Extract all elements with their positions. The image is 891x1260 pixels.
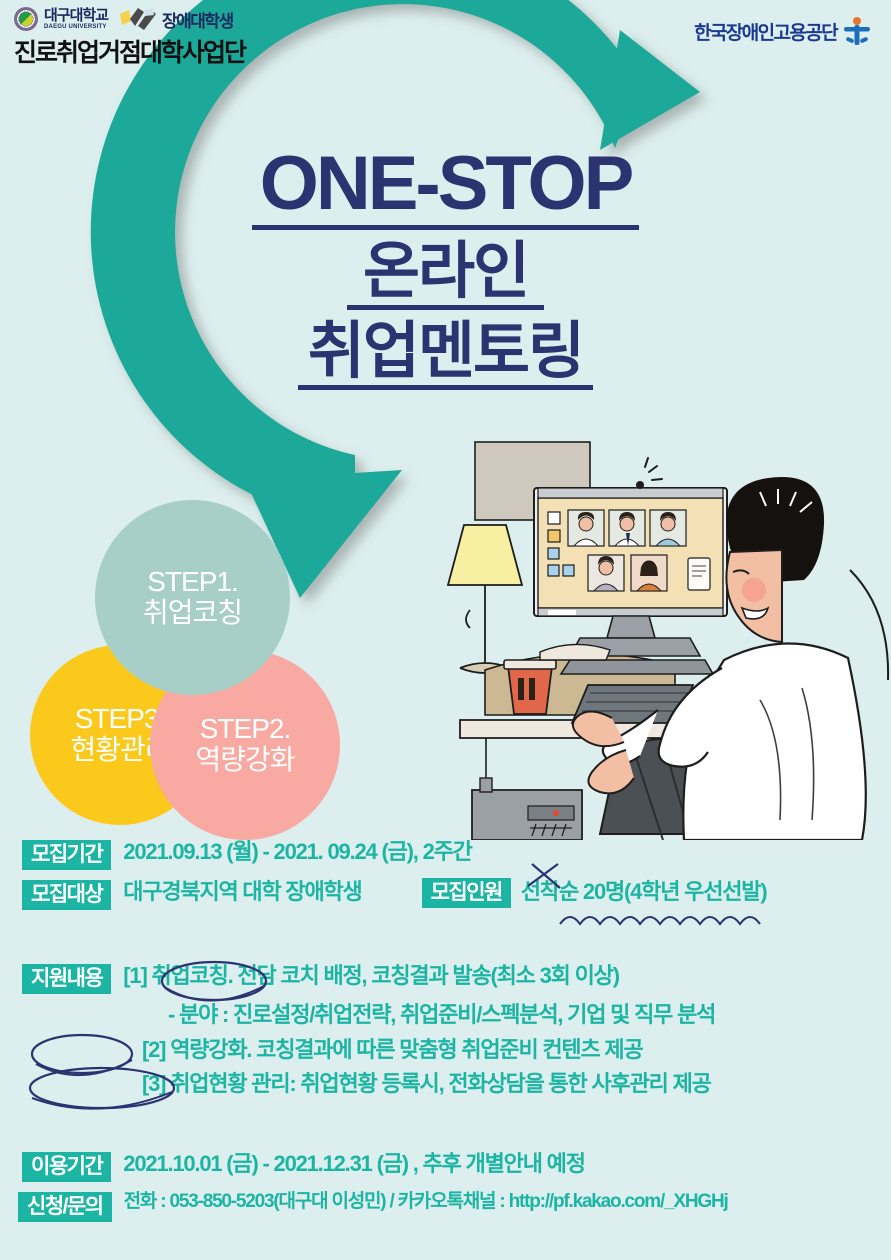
footer-info-section: 이용기간 2021.10.01 (금) - 2021.12.31 (금) , 추…: [0, 1150, 891, 1230]
quota-value: 선착순 20명(4학년 우선선발): [521, 878, 767, 906]
info-row-target: 모집대상 대구경북지역 대학 장애학생 모집인원 선착순 20명(4학년 우선선…: [0, 878, 891, 910]
support-section: 지원내용 [1] 취업코칭. 전담 코치 배정, 코칭결과 발송(최소 3회 이…: [0, 962, 891, 1105]
target-label-badge: 모집대상: [22, 880, 111, 910]
step-1-number: STEP1.: [147, 567, 237, 598]
daegu-university-emblem-icon: [14, 7, 38, 31]
usage-label-badge: 이용기간: [22, 1152, 111, 1182]
title-line-ko-2: 취업멘토링: [298, 320, 593, 390]
step-1-label: 취업코칭: [143, 598, 242, 629]
info-section: 모집기간 2021.09.13 (월) - 2021. 09.24 (금), 2…: [0, 838, 891, 918]
support-row-3: [2] 역량강화. 코칭결과에 따른 맞춤형 취업준비 컨텐츠 제공: [0, 1036, 891, 1064]
title-line-en: ONE-STOP: [252, 148, 640, 230]
quota-label-badge: 모집인원: [422, 878, 511, 908]
poster-title: ONE-STOP 온라인 취업멘토링: [0, 148, 891, 390]
university-name-ko: 대구대학교: [44, 8, 108, 23]
info-row-contact: 신청/문의 전화 : 053-850-5203(대구대 이성민) / 카카오톡채…: [0, 1190, 891, 1222]
poster-root: 대구대학교 DAEGU UNIVERSITY 장애대학생 진로취업거점대학사업단…: [0, 0, 891, 1260]
support-line-2: - 분야 : 진로설정/취업전략, 취업준비/스펙분석, 기업 및 직무 분석: [168, 1001, 715, 1029]
target-value: 대구경북지역 대학 장애학생: [123, 878, 361, 906]
contact-label-badge: 신청/문의: [18, 1192, 112, 1222]
header-left-logo-group: 대구대학교 DAEGU UNIVERSITY 장애대학생 진로취업거점대학사업단: [14, 4, 314, 69]
header-right-logo-group: 한국장애인고용공단: [694, 16, 871, 46]
period-value: 2021.09.13 (월) - 2021. 09.24 (금), 2주간: [123, 838, 471, 866]
info-row-period: 모집기간 2021.09.13 (월) - 2021. 09.24 (금), 2…: [0, 838, 891, 870]
partner-label: 장애대학생: [162, 7, 233, 32]
kead-person-mark-icon: [843, 16, 871, 46]
university-name-en: DAEGU UNIVERSITY: [44, 24, 108, 30]
support-line-3: [2] 역량강화. 코칭결과에 따른 맞춤형 취업준비 컨텐츠 제공: [142, 1036, 643, 1064]
org-title: 진로취업거점대학사업단: [14, 33, 314, 69]
step-circle-1: STEP1. 취업코칭: [95, 500, 290, 695]
contact-value[interactable]: 전화 : 053-850-5203(대구대 이성민) / 카카오톡채널 : ht…: [124, 1190, 728, 1214]
step-2-number: STEP2.: [200, 714, 290, 745]
usage-value: 2021.10.01 (금) - 2021.12.31 (금) , 추후 개별안…: [123, 1150, 584, 1178]
support-line-1: [1] 취업코칭. 전담 코치 배정, 코칭결과 발송(최소 3회 이상): [123, 962, 619, 990]
title-line-ko-1: 온라인: [347, 240, 544, 310]
step-2-label: 역량강화: [195, 745, 294, 776]
support-row-2: - 분야 : 진로설정/취업전략, 취업준비/스펙분석, 기업 및 직무 분석: [0, 1001, 891, 1029]
check-mark-icon: [116, 8, 156, 30]
step-circle-group: STEP3. 현황관리 STEP2. 역량강화 STEP1. 취업코칭: [20, 500, 360, 830]
info-row-usage: 이용기간 2021.10.01 (금) - 2021.12.31 (금) , 추…: [0, 1150, 891, 1182]
online-mentoring-illustration: [430, 420, 891, 840]
university-name-block: 대구대학교 DAEGU UNIVERSITY: [44, 8, 108, 30]
period-label-badge: 모집기간: [22, 840, 111, 870]
support-label-badge: 지원내용: [22, 964, 111, 994]
support-row-4: [3] 취업현황 관리: 취업현황 등록시, 전화상담을 통한 사후관리 제공: [0, 1070, 891, 1098]
support-line-4: [3] 취업현황 관리: 취업현황 등록시, 전화상담을 통한 사후관리 제공: [142, 1070, 711, 1098]
agency-name: 한국장애인고용공단: [694, 18, 837, 45]
support-row-1: 지원내용 [1] 취업코칭. 전담 코치 배정, 코칭결과 발송(최소 3회 이…: [0, 962, 891, 994]
